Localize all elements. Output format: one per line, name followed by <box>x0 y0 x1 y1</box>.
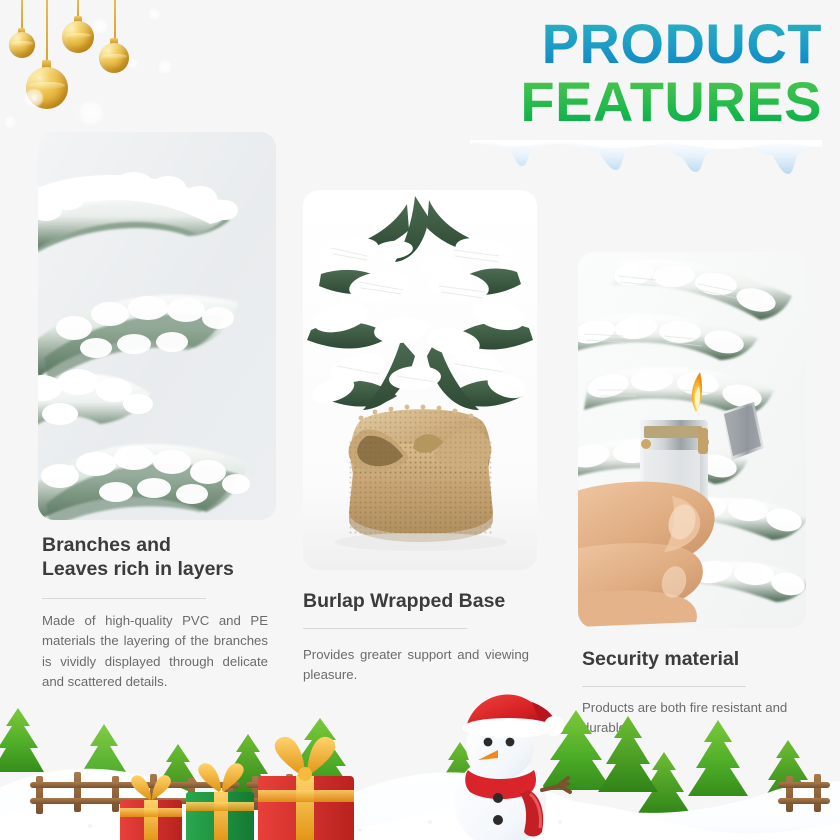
pine-tree <box>688 720 748 796</box>
feature-card-branches[interactable] <box>38 132 276 520</box>
feature-card-burlap[interactable] <box>303 190 537 570</box>
ornament-string <box>46 0 48 64</box>
feature-title-burlap: Burlap Wrapped Base <box>303 590 553 614</box>
feature-title-security: Security material <box>582 648 832 672</box>
feature-card-security[interactable] <box>578 252 806 628</box>
feature-image-burlap <box>303 190 537 570</box>
bokeh-dot <box>4 116 16 128</box>
feature-divider-burlap <box>303 628 467 629</box>
title-line-product: PRODUCT <box>422 18 822 70</box>
feature-image-security <box>578 252 806 628</box>
bokeh-dot <box>92 18 108 34</box>
snow-drip-divider <box>470 140 822 180</box>
infographic-canvas: PRODUCT FEATURES <box>0 0 840 840</box>
ornament-string <box>114 0 116 42</box>
ornament-ball <box>99 43 129 73</box>
bokeh-dot <box>158 60 172 74</box>
feature-title-branches: Branches and Leaves rich in layers <box>42 534 287 582</box>
feature-image-branches <box>38 132 276 520</box>
page-title: PRODUCT FEATURES <box>422 18 822 127</box>
ornament-ball <box>9 32 35 58</box>
bokeh-dot <box>148 8 160 20</box>
bottom-snow-scene <box>0 680 840 840</box>
pine-tree <box>598 716 658 792</box>
bokeh-dot <box>24 88 44 108</box>
feature-divider-branches <box>42 598 206 599</box>
pine-tree <box>0 708 44 772</box>
bokeh-dot <box>128 58 138 68</box>
ornament-ball <box>62 21 94 53</box>
bokeh-dot <box>78 100 104 126</box>
title-line-features: FEATURES <box>422 76 822 128</box>
